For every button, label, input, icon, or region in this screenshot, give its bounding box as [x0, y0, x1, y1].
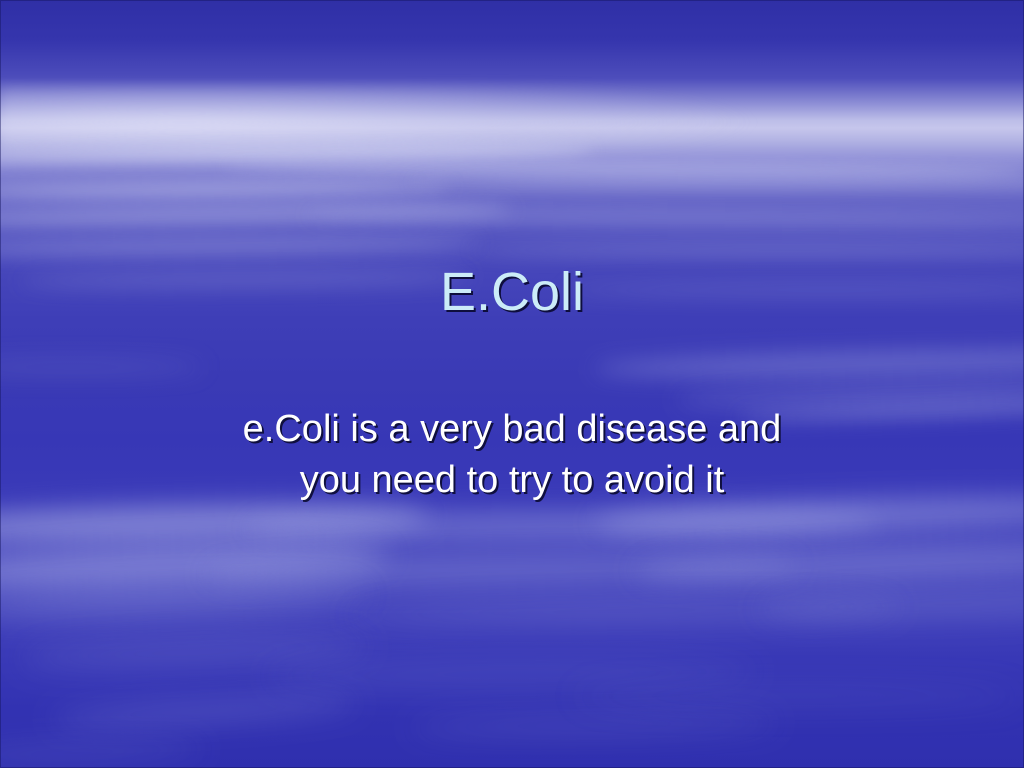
slide-title: E.Coli	[440, 264, 584, 321]
presentation-slide: E.Coli e.Coli is a very bad disease and …	[0, 0, 1024, 768]
horizon-glow	[0, 86, 1024, 152]
slide-body-line-1: e.Coli is a very bad disease and	[96, 404, 928, 455]
slide-title-placeholder: E.Coli	[0, 264, 1024, 321]
slide-body-placeholder: e.Coli is a very bad disease and you nee…	[96, 404, 928, 507]
slide-body-line-2: you need to try to avoid it	[96, 455, 928, 506]
